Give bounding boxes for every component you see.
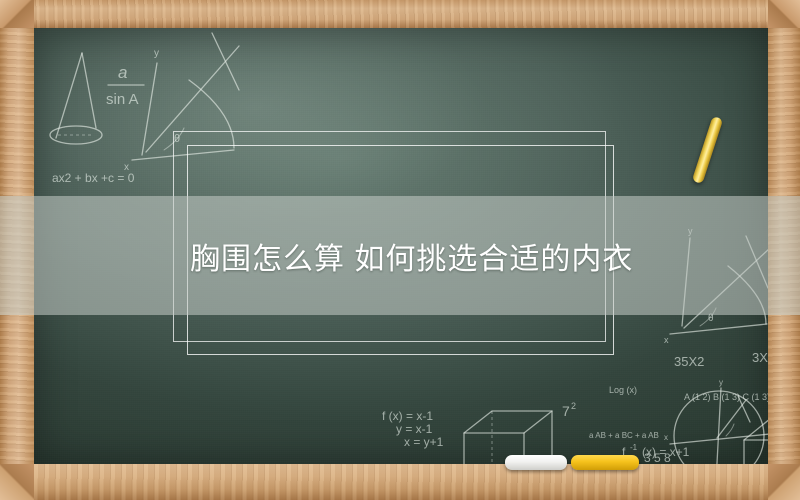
svg-text:x: x bbox=[664, 335, 669, 345]
svg-text:35X2: 35X2 bbox=[674, 354, 704, 369]
frame-corner-bottom-right bbox=[768, 464, 800, 500]
frame-corner-bottom-left bbox=[0, 464, 34, 500]
svg-text:y = x-1: y = x-1 bbox=[396, 422, 433, 436]
svg-text:3X2: 3X2 bbox=[752, 350, 768, 365]
svg-text:x: x bbox=[664, 433, 668, 442]
svg-text:f (x) = x-1: f (x) = x-1 bbox=[382, 409, 433, 423]
chalk-multiplications: 35X2 3X2 bbox=[674, 350, 768, 380]
eraser-white-icon bbox=[505, 455, 567, 470]
frame-corner-top-right bbox=[768, 0, 800, 28]
frame-corner-top-left bbox=[0, 0, 34, 28]
page-title: 胸围怎么算 如何挑选合适的内衣 bbox=[0, 196, 800, 315]
svg-text:sin A: sin A bbox=[106, 91, 139, 108]
svg-text:y: y bbox=[154, 48, 159, 59]
frame-bottom-tray bbox=[0, 464, 800, 500]
chalk-cube-right bbox=[734, 400, 768, 464]
svg-text:2: 2 bbox=[571, 401, 576, 411]
svg-text:7: 7 bbox=[562, 403, 570, 419]
svg-text:y: y bbox=[719, 378, 723, 387]
svg-text:x = y+1: x = y+1 bbox=[404, 435, 444, 449]
frame-top-rail bbox=[0, 0, 800, 28]
svg-text:-1: -1 bbox=[630, 443, 638, 452]
chalkboard-cover-image: a sin A y x θ ax2 + bx +c = 0 bbox=[0, 0, 800, 500]
svg-text:ax2 + bx +c = 0: ax2 + bx +c = 0 bbox=[52, 171, 135, 185]
chalk-log-note: Log (x) bbox=[609, 381, 669, 401]
chalk-tray-yellow-icon bbox=[571, 455, 639, 470]
svg-text:a: a bbox=[118, 63, 127, 82]
chalk-column-addition: 3 5 8 2 7 9 6 3 7 bbox=[640, 448, 700, 464]
svg-text:Log (x): Log (x) bbox=[609, 385, 637, 395]
svg-text:3 5 8: 3 5 8 bbox=[644, 451, 671, 464]
svg-text:a AB + a BC + a AB: a AB + a BC + a AB bbox=[589, 431, 659, 440]
